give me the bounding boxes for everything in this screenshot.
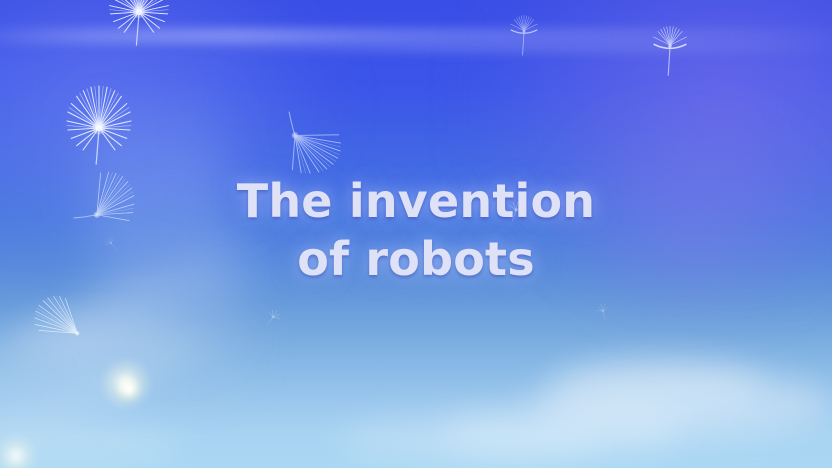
dandelion-seed-center-tilted: [251, 93, 367, 209]
pale-haze-left-glow: [0, 0, 340, 250]
cloud-bottom-right-3: [442, 404, 682, 458]
cloud-bottom-center-1: [340, 416, 600, 464]
lens-flare-streak-top: [0, 28, 832, 44]
title-line-1: The invention: [0, 172, 832, 230]
light-shaft-left: [75, 73, 254, 418]
lens-flare-streak-top-secondary: [180, 44, 832, 53]
title-card-scene: The invention of robots: [0, 0, 832, 468]
cloud-bottom-right-1: [532, 368, 832, 438]
bokeh-sparkle-corner-bottom-left: [0, 434, 38, 468]
dandelion-seed-top-left-partial: [93, 0, 185, 58]
dandelion-seed-left-fan: [56, 146, 170, 260]
lens-flare-diagonal-lower-left: [0, 305, 268, 459]
dandelion-seed-top-center-small: [495, 4, 553, 62]
bokeh-sparkle-small-lower-left: [116, 376, 142, 402]
cloud-bottom-left-1: [0, 422, 180, 468]
violet-haze-right-lower-glow: [562, 120, 822, 320]
dandelion-seed-bottom-center-wisp: [250, 294, 297, 341]
bokeh-sparkle-large-lower-left: [100, 358, 152, 410]
cloud-mid-left-1: [10, 320, 200, 360]
dandelion-seed-over-title-o: [492, 186, 540, 234]
dandelion-seed-upper-left-large: [49, 78, 149, 178]
dandelion-seed-center-small-wisp: [90, 222, 132, 264]
violet-haze-right-glow: [472, 0, 832, 290]
lens-flare-diagonal-left: [0, 217, 294, 443]
dandelion-seed-lower-left-feather: [24, 286, 98, 360]
title-line-2: of robots: [0, 230, 832, 288]
dandelion-seed-top-right-cup: [634, 12, 706, 84]
dandelion-seed-mid-right-faint: [582, 290, 625, 333]
cloud-bottom-right-2: [552, 358, 762, 410]
title-block: The invention of robots: [0, 172, 832, 288]
